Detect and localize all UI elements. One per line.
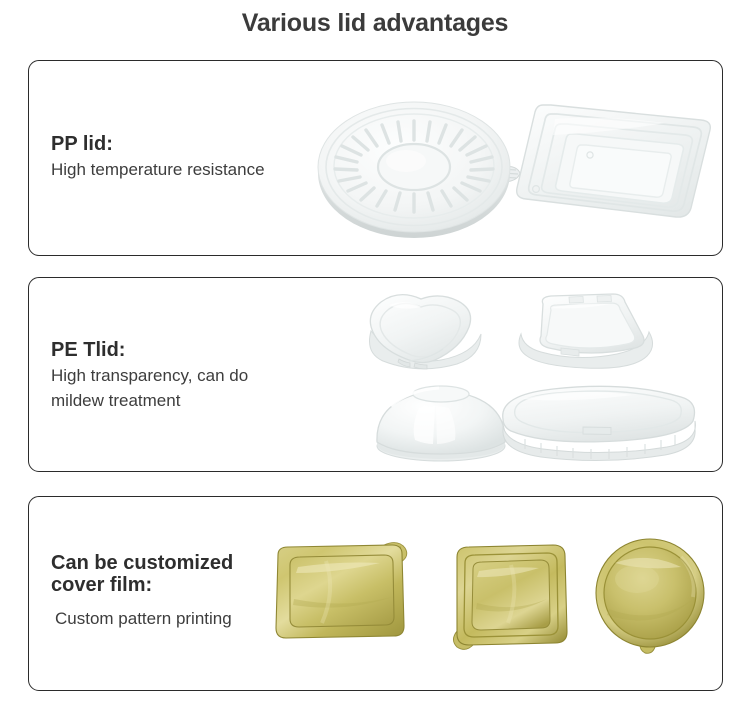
dome-cup-lid-image <box>369 378 519 466</box>
square-pet-lid-image <box>505 286 665 381</box>
gold-square-cover-film-image <box>441 537 586 657</box>
card-pp-lid: PP lid: High temperature resistance <box>28 60 723 256</box>
card-pe-lid-description: High transparency, can do mildew treatme… <box>51 364 248 413</box>
round-pp-lid-image <box>314 91 529 241</box>
page-title: Various lid advantages <box>0 9 750 38</box>
card-cover-film: Can be customized cover film: Custom pat… <box>28 496 723 691</box>
card-cover-film-title: Can be customized cover film: <box>51 552 233 597</box>
rectangular-pp-lid-image <box>509 83 723 238</box>
card-cover-film-description: Custom pattern printing <box>51 600 233 632</box>
card-cover-film-text: Can be customized cover film: Custom pat… <box>51 552 233 631</box>
card-pp-lid-description: High temperature resistance <box>51 158 265 183</box>
card-pp-lid-title: PP lid: <box>51 133 265 155</box>
card-pe-lid-text: PE Tlid: High transparency, can do milde… <box>51 339 248 414</box>
heart-shaped-pet-lid-image <box>349 289 509 381</box>
oval-flat-lid-image <box>497 383 697 463</box>
card-pe-lid-title: PE Tlid: <box>51 339 248 361</box>
card-pe-lid: PE Tlid: High transparency, can do milde… <box>28 277 723 472</box>
card-pp-lid-text: PP lid: High temperature resistance <box>51 133 265 183</box>
gold-rectangular-cover-film-image <box>264 537 424 652</box>
gold-round-cover-film-image <box>581 535 723 660</box>
